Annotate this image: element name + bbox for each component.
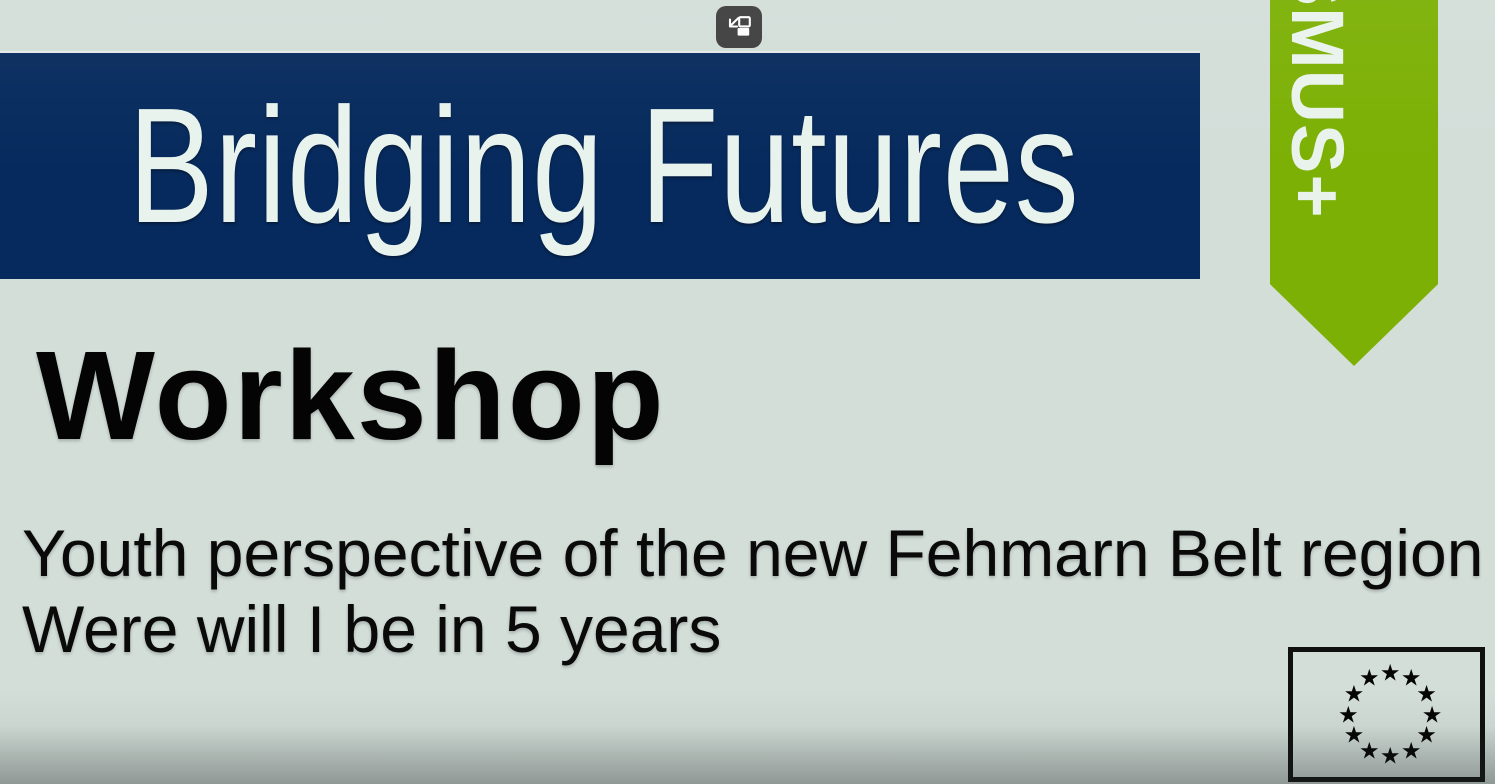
eu-star-circle: ★★★★★★★★★★★★ [1293, 652, 1480, 777]
picture-in-picture-button[interactable] [716, 6, 762, 48]
title-banner: Bridging Futures [0, 53, 1200, 279]
slide-headline: Workshop [36, 333, 666, 459]
subtitle-line-1: Youth perspective of the new Fehmarn Bel… [22, 515, 1483, 591]
subtitle-line-2: Were will I be in 5 years [22, 591, 1483, 667]
eu-flag-emblem: ★★★★★★★★★★★★ [1288, 647, 1485, 782]
presentation-title: Bridging Futures [128, 84, 1067, 248]
slide-subtitle: Youth perspective of the new Fehmarn Bel… [22, 515, 1483, 667]
erasmus-plus-label: ERASMUS+ [1280, 0, 1354, 219]
picture-in-picture-icon [726, 15, 752, 39]
video-frame: Bridging Futures ERASMUS+ Workshop Youth… [0, 0, 1495, 784]
